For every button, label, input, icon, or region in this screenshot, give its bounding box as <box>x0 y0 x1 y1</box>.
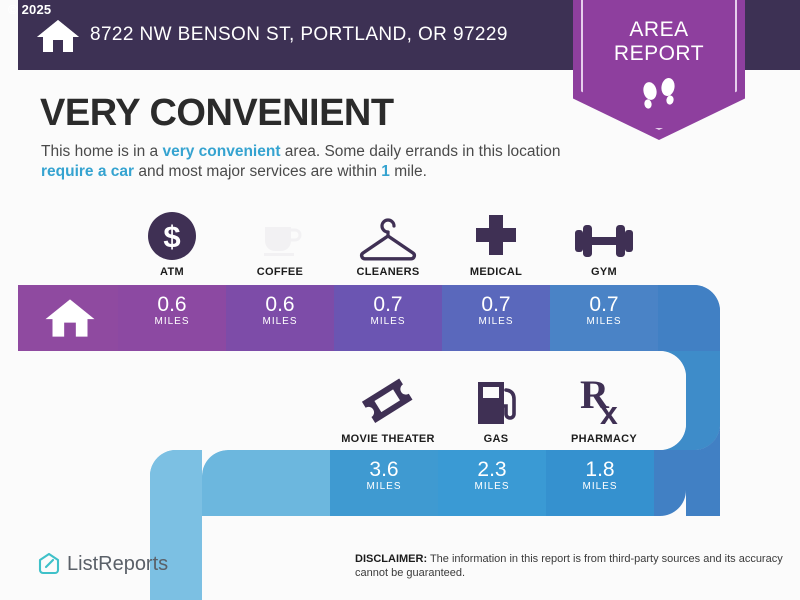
copyright-label: © 2025 <box>8 2 51 17</box>
home-icon <box>36 18 80 54</box>
distance-cell-pharmacy: 1.8 MILES <box>546 450 654 516</box>
movie-ticket-icon <box>334 370 442 428</box>
distance-value-cleaners: 0.7 <box>334 293 442 317</box>
icon-cell-gas: GAS <box>442 370 550 445</box>
ribbon-home-icon <box>44 297 96 339</box>
icon-label-gas: GAS <box>442 433 550 445</box>
distance-unit-gas: MILES <box>438 481 546 492</box>
badge-line-1: AREA <box>573 18 745 42</box>
gas-pump-icon <box>442 370 550 428</box>
distance-unit-movie-theater: MILES <box>330 481 438 492</box>
badge-title: AREA REPORT <box>573 18 745 66</box>
pharmacy-rx-icon: R x <box>550 370 658 428</box>
distance-cell-gas: 2.3 MILES <box>438 450 546 516</box>
disclaimer-label: DISCLAIMER: <box>355 553 427 565</box>
distance-value-atm: 0.6 <box>118 293 226 317</box>
distance-value-medical: 0.7 <box>442 293 550 317</box>
distance-value-movie-theater: 3.6 <box>330 458 438 482</box>
listreports-logo-text: ListReports <box>67 553 168 576</box>
ribbon-cell-pad2 <box>202 450 330 516</box>
distance-cell-gym: 0.7 MILES <box>550 285 658 351</box>
distance-value-pharmacy: 1.8 <box>546 458 654 482</box>
badge-line-2: REPORT <box>573 42 745 66</box>
distance-value-gym: 0.7 <box>550 293 658 317</box>
icon-cell-movie-theater: MOVIE THEATER <box>334 370 442 445</box>
icon-cell-pharmacy: R x PHARMACY <box>550 370 658 445</box>
distance-unit-coffee: MILES <box>226 316 334 327</box>
distance-unit-atm: MILES <box>118 316 226 327</box>
property-address: 8722 NW BENSON ST, PORTLAND, OR 97229 <box>90 24 508 46</box>
area-report-page: © 2025 8722 NW BENSON ST, PORTLAND, OR 9… <box>0 0 800 600</box>
distance-unit-pharmacy: MILES <box>546 481 654 492</box>
distance-value-gas: 2.3 <box>438 458 546 482</box>
footprints-icon <box>573 78 745 119</box>
distance-unit-cleaners: MILES <box>334 316 442 327</box>
distance-value-coffee: 0.6 <box>226 293 334 317</box>
distance-cell-medical: 0.7 MILES <box>442 285 550 351</box>
listreports-house-icon <box>38 552 60 576</box>
distance-cell-coffee: 0.6 MILES <box>226 285 334 351</box>
distance-cell-movie-theater: 3.6 MILES <box>330 450 438 516</box>
icon-label-pharmacy: PHARMACY <box>550 433 658 445</box>
svg-text:x: x <box>600 395 618 428</box>
distance-unit-gym: MILES <box>550 316 658 327</box>
listreports-logo: ListReports <box>38 552 168 576</box>
distance-cell-atm: 0.6 MILES <box>118 285 226 351</box>
distance-unit-medical: MILES <box>442 316 550 327</box>
disclaimer: DISCLAIMER: The information in this repo… <box>355 552 785 580</box>
distance-cell-cleaners: 0.7 MILES <box>334 285 442 351</box>
icon-label-movie-theater: MOVIE THEATER <box>334 433 442 445</box>
